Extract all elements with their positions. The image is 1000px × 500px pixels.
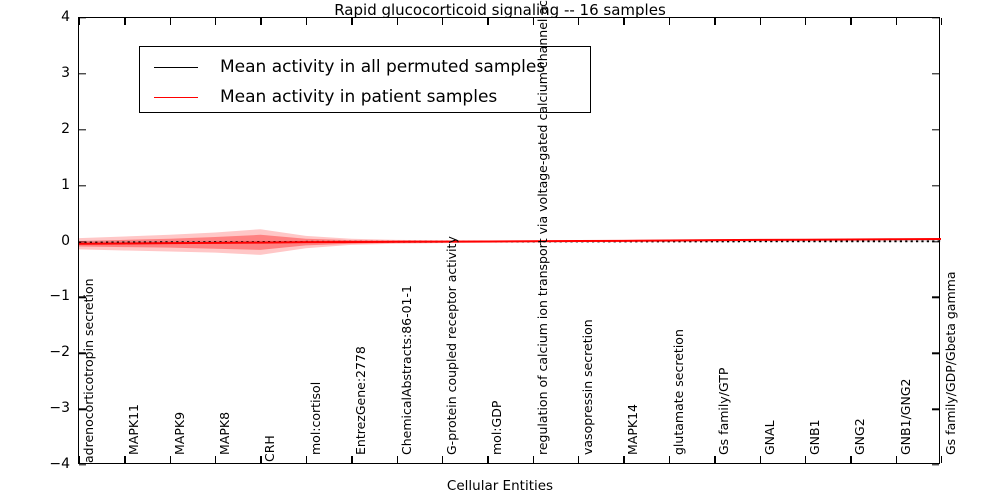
x-tick-label: MAPK14 [627,404,640,455]
x-tick-label: regulation of calcium ion transport via … [537,0,550,455]
x-tick-label: CRH [264,435,277,462]
x-axis-label: Cellular Entities [0,478,1000,494]
x-tick-label: GNB1 [809,419,822,455]
y-tick-label: −2 [12,344,70,360]
x-tick-mark [941,456,942,463]
x-tick-label: ChemicalAbstracts:86-01-1 [401,285,414,455]
x-tick-label: MAPK9 [174,412,187,455]
chart-figure: Rapid glucocorticoid signaling -- 16 sam… [0,0,1000,500]
x-tick-label: mol:cortisol [310,382,323,455]
x-tick-label: GNAL [764,420,777,455]
y-tick-label: 4 [12,9,70,25]
x-tick-label: MAPK8 [219,412,232,455]
y-tick-label: 3 [12,65,70,81]
legend-entry-permuted: Mean activity in all permuted samples [140,52,590,82]
legend-label-patient: Mean activity in patient samples [220,87,497,107]
x-tick-label: MAPK11 [128,404,141,455]
x-tick-label: vasopressin secretion [582,319,595,455]
y-tick-label: −3 [12,400,70,416]
x-tick-label: Gs family/GDP/Gbeta gamma [945,272,958,455]
x-tick-label: EntrezGene:2778 [355,346,368,455]
legend-label-permuted: Mean activity in all permuted samples [220,57,545,77]
legend-line-swatch-black [154,67,198,68]
x-tick-mark [941,18,942,25]
y-tick-label: −4 [12,456,70,472]
x-tick-label: glutamate secretion [673,329,686,455]
y-tick-label: −1 [12,288,70,304]
x-tick-label: GNB1/GNG2 [900,379,913,455]
x-tick-label: G-protein coupled receptor activity [446,236,459,455]
x-tick-label: Gs family/GTP [718,368,731,455]
x-tick-label: adrenocorticotropin secretion [83,278,96,463]
chart-legend: Mean activity in all permuted samples Me… [139,46,591,113]
legend-entry-patient: Mean activity in patient samples [140,82,590,112]
x-tick-label: mol:GDP [491,401,504,455]
y-tick-label: 2 [12,121,70,137]
plot-area: Mean activity in all permuted samples Me… [78,17,940,464]
y-tick-label: 0 [12,233,70,249]
legend-line-swatch-red [154,97,198,98]
x-tick-label: GNG2 [854,418,867,455]
y-tick-label: 1 [12,177,70,193]
